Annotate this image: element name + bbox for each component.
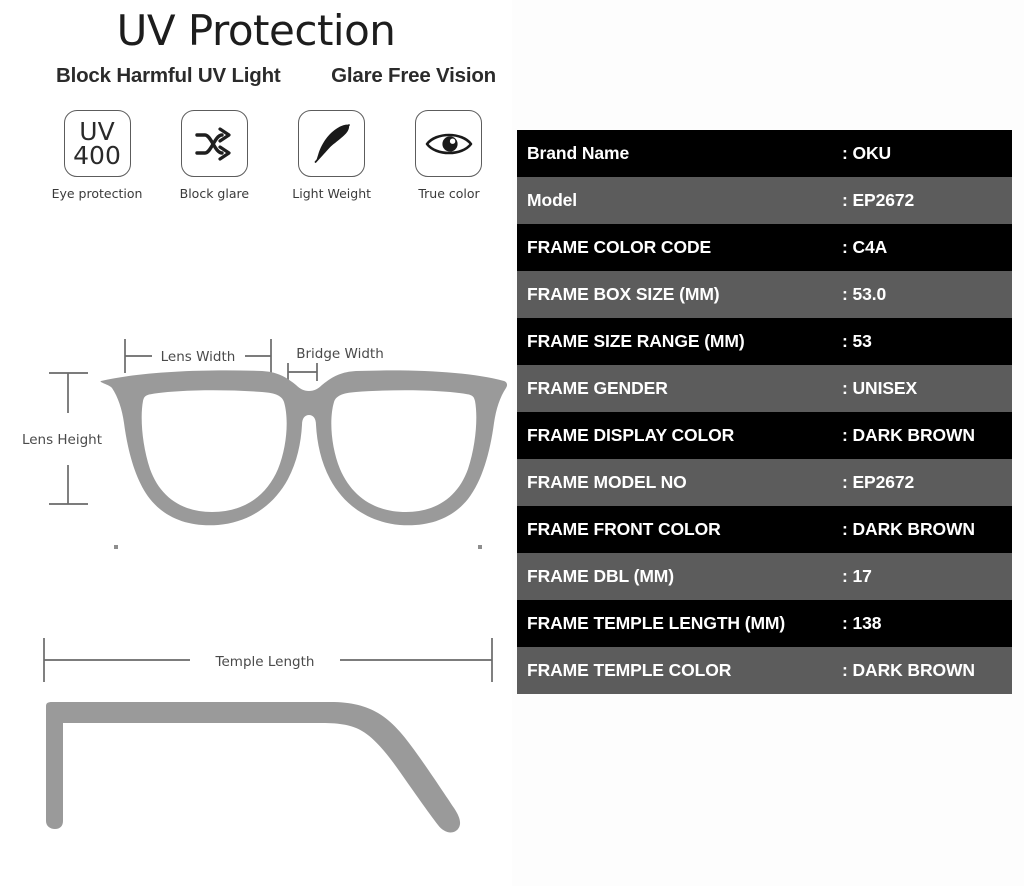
spec-value: : EP2672 [842,190,1012,211]
spec-value: : EP2672 [842,472,1012,493]
spec-key: FRAME GENDER [517,378,842,399]
feature-caption: Block glare [180,186,249,201]
table-row: FRAME SIZE RANGE (MM): 53 [517,318,1012,365]
frame-front-diagram: Lens Width Bridge Width Lens Height [0,305,512,570]
bridge-width-label: Bridge Width [296,346,384,362]
spec-key: FRAME DBL (MM) [517,566,842,587]
spec-value: : 17 [842,566,1012,587]
spec-value: : 53.0 [842,284,1012,305]
spec-key: Model [517,190,842,211]
table-row: Model: EP2672 [517,177,1012,224]
temple-arm-shape [46,702,460,832]
spec-key: FRAME DISPLAY COLOR [517,425,842,446]
spec-value: : 53 [842,331,1012,352]
promo-panel: UV Protection Block Harmful UV Light Gla… [0,0,512,886]
feature-caption: True color [418,186,479,201]
shuffle-arrows-icon [181,110,248,177]
uv400-icon: UV 400 [64,110,131,177]
spec-key: Brand Name [517,143,842,164]
lens-height-label: Lens Height [22,432,102,448]
spec-value: : DARK BROWN [842,519,1012,540]
table-row: FRAME GENDER: UNISEX [517,365,1012,412]
feature-caption: Eye protection [52,186,143,201]
table-row: FRAME DISPLAY COLOR: DARK BROWN [517,412,1012,459]
uv400-badge-top: UV [79,120,114,144]
table-row: FRAME BOX SIZE (MM): 53.0 [517,271,1012,318]
hinge-dot-right [478,545,482,549]
table-row: FRAME FRONT COLOR: DARK BROWN [517,506,1012,553]
table-row: FRAME MODEL NO: EP2672 [517,459,1012,506]
page-title: UV Protection [0,6,512,55]
spec-key: FRAME BOX SIZE (MM) [517,284,842,305]
spec-key: FRAME TEMPLE COLOR [517,660,842,681]
feature-eye-protection: UV 400 Eye protection [48,110,146,201]
feather-icon [298,110,365,177]
spec-value: : OKU [842,143,1012,164]
eyeglass-frame-shape [101,370,508,525]
temple-length-label: Temple Length [215,654,315,670]
spec-value: : C4A [842,237,1012,258]
hinge-dot-left [114,545,118,549]
subtitle-glare-free: Glare Free Vision [331,64,496,88]
table-row: FRAME TEMPLE LENGTH (MM): 138 [517,600,1012,647]
spec-value: : DARK BROWN [842,660,1012,681]
table-row: FRAME COLOR CODE: C4A [517,224,1012,271]
spec-key: FRAME MODEL NO [517,472,842,493]
feature-true-color: True color [400,110,498,201]
spec-value: : UNISEX [842,378,1012,399]
promo-subtitles: Block Harmful UV Light Glare Free Vision [56,64,496,88]
temple-side-diagram: Temple Length [0,618,512,868]
spec-key: FRAME SIZE RANGE (MM) [517,331,842,352]
bridge-width-dimension [288,363,317,381]
spec-value: : 138 [842,613,1012,634]
feature-block-glare: Block glare [165,110,263,201]
spec-key: FRAME TEMPLE LENGTH (MM) [517,613,842,634]
subtitle-block-uv: Block Harmful UV Light [56,64,281,88]
table-row: Brand Name: OKU [517,130,1012,177]
table-row: FRAME DBL (MM): 17 [517,553,1012,600]
table-row: FRAME TEMPLE COLOR: DARK BROWN [517,647,1012,694]
spec-key: FRAME FRONT COLOR [517,519,842,540]
feature-light-weight: Light Weight [283,110,381,201]
spec-key: FRAME COLOR CODE [517,237,842,258]
eye-icon [415,110,482,177]
feature-caption: Light Weight [292,186,371,201]
lens-width-label: Lens Width [161,349,236,365]
feature-icon-row: UV 400 Eye protection Block glare [48,110,498,201]
spec-value: : DARK BROWN [842,425,1012,446]
spec-table: Brand Name: OKUModel: EP2672FRAME COLOR … [517,130,1012,694]
uv400-badge-bottom: 400 [73,144,121,168]
